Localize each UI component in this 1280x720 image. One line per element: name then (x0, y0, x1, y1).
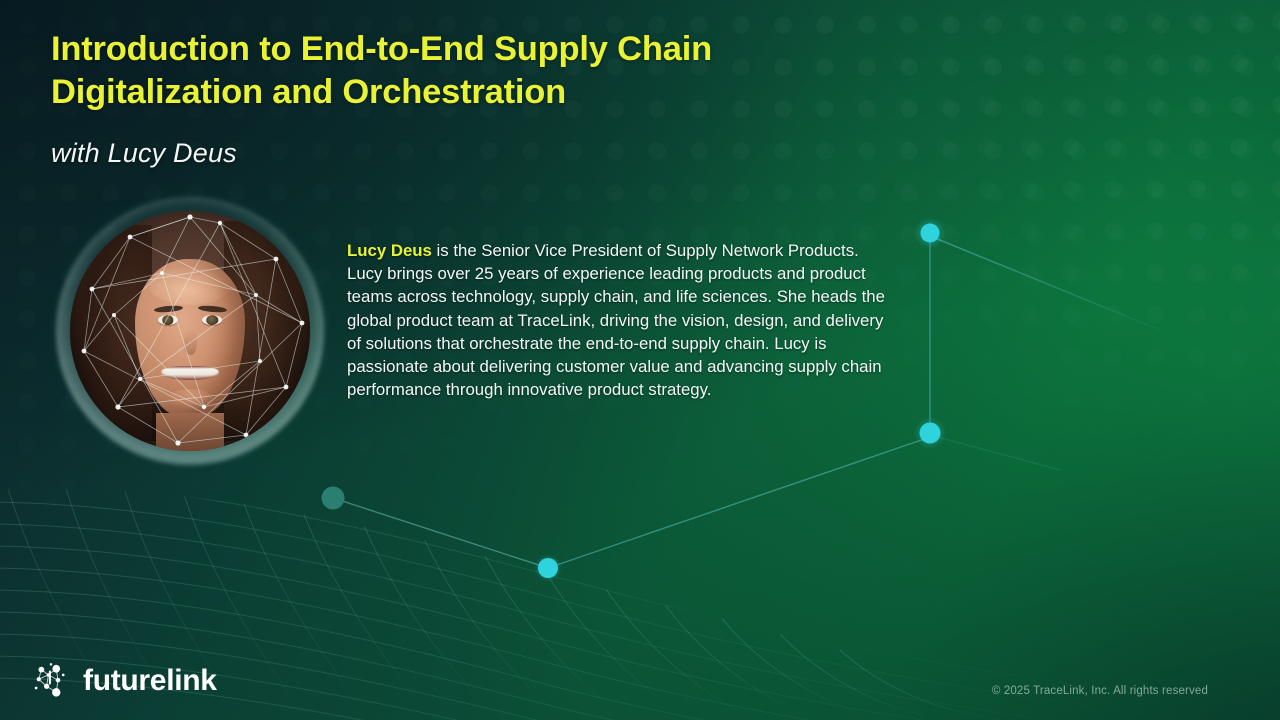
avatar-network-overlay (70, 211, 310, 451)
slide-subtitle: with Lucy Deus (51, 138, 237, 169)
presentation-slide: Introduction to End-to-End Supply Chain … (0, 0, 1280, 720)
node-cluster-icon (30, 660, 72, 702)
brand-name: futurelink (83, 664, 217, 698)
speaker-bio: Lucy Deus is the Senior Vice President o… (347, 239, 895, 401)
futurelink-logo[interactable]: futurelink (30, 660, 217, 702)
copyright-notice: © 2025 TraceLink, Inc. All rights reserv… (992, 685, 1208, 697)
avatar-photo (70, 211, 310, 451)
page-title: Introduction to End-to-End Supply Chain … (51, 28, 871, 115)
avatar (62, 203, 318, 459)
speaker-name: Lucy Deus (347, 241, 432, 260)
speaker-bio-text: is the Senior Vice President of Supply N… (347, 241, 885, 399)
